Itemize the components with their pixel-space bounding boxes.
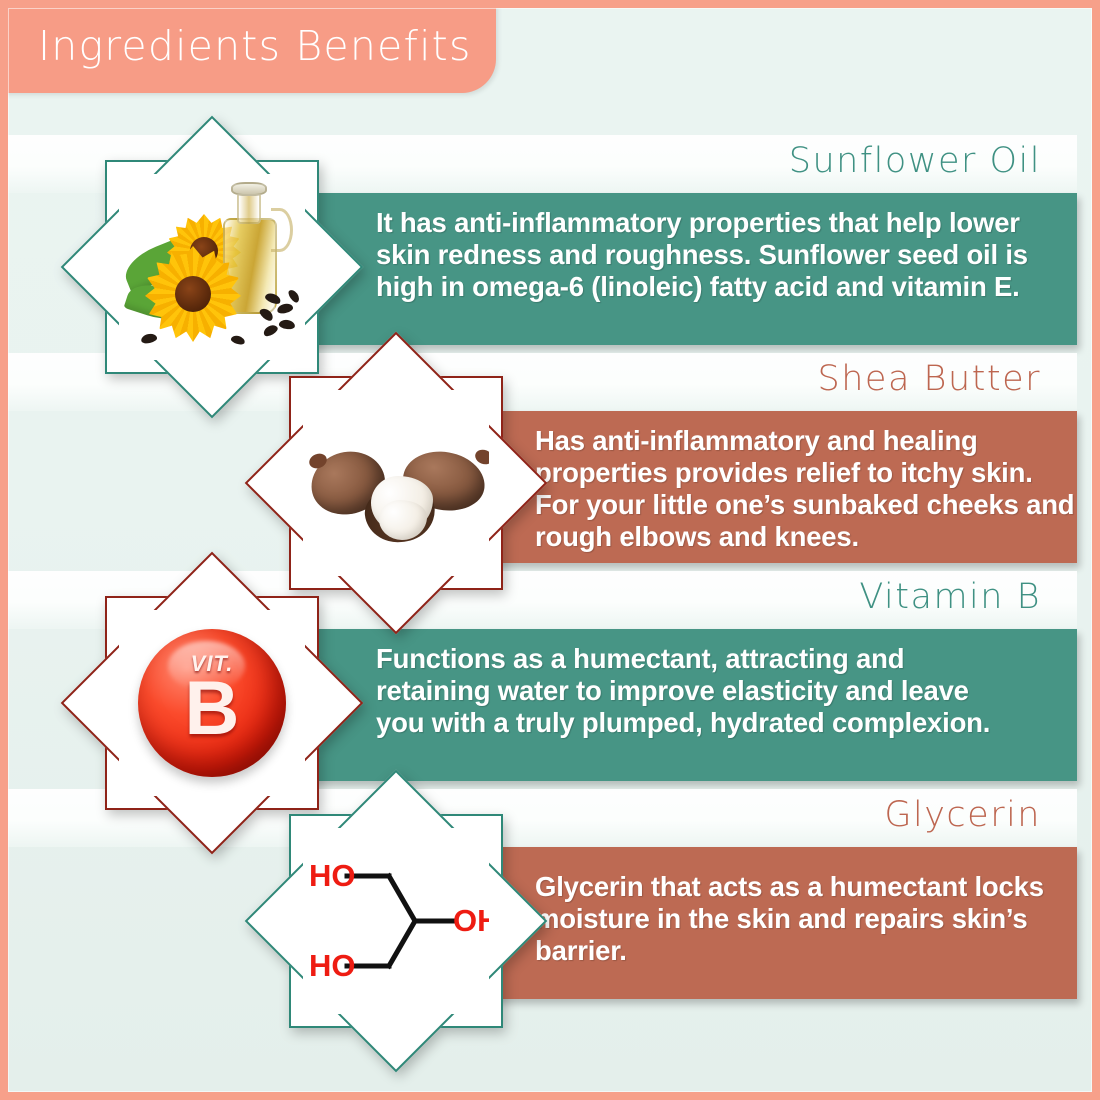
section-body-glycerin: Glycerin that acts as a humectant locks … [535, 871, 1075, 967]
glycerin-label-ho-top: HO [309, 858, 356, 893]
glycerin-skeletal-formula-icon: HO OH HO [303, 828, 489, 1014]
ingredient-badge-glycerin: HO OH HO [289, 814, 503, 1028]
section-body-vitamin-b: Functions as a humectant, attracting and… [376, 643, 1006, 739]
sunflower-seed-icon [287, 288, 302, 304]
sunflower-seed-icon [230, 334, 246, 346]
glycerin-label-oh-right: OH [453, 903, 489, 938]
glycerin-structure-image: HO OH HO [303, 828, 489, 1014]
vitamin-large-label: B [138, 671, 286, 747]
sunflower-seed-icon [278, 319, 295, 330]
section-heading-sunflower-oil: Sunflower Oil [789, 141, 1041, 181]
sunflower-icon [145, 246, 241, 342]
glycerin-label-ho-bottom: HO [309, 948, 356, 983]
oil-bottle-cap-icon [231, 182, 267, 196]
section-heading-shea-butter: Shea Butter [818, 359, 1041, 399]
infographic-page: Ingredients Benefits Sunflower Oil It ha… [0, 0, 1100, 1100]
page-title: Ingredients Benefits [38, 22, 472, 70]
ingredient-badge-shea-butter [289, 376, 503, 590]
oil-bottle-handle-icon [271, 208, 293, 252]
text-band-shea-butter: Has anti-inflammatory and healing proper… [473, 411, 1077, 563]
ingredient-badge-sunflower-oil [105, 160, 319, 374]
sunflower-seed-icon [140, 332, 158, 344]
text-band-glycerin: Glycerin that acts as a humectant locks … [473, 847, 1077, 999]
text-band-vitamin-b: Functions as a humectant, attracting and… [308, 629, 1077, 781]
vitamin-b-sphere-image: VIT. B [119, 610, 305, 796]
section-heading-vitamin-b: Vitamin B [859, 577, 1041, 617]
header-banner: Ingredients Benefits [8, 8, 496, 93]
oil-bottle-neck-icon [237, 192, 261, 224]
sunflower-seed-icon [276, 302, 294, 315]
sunflower-oil-image [119, 174, 305, 360]
sunflower-seed-icon [262, 323, 279, 338]
vitamin-sphere-icon: VIT. B [138, 629, 286, 777]
ingredient-badge-vitamin-b: VIT. B [105, 596, 319, 810]
text-band-sunflower-oil: It has anti-inflammatory properties that… [308, 193, 1077, 345]
infographic-canvas: Ingredients Benefits Sunflower Oil It ha… [8, 8, 1092, 1092]
shea-nuts-image [303, 390, 489, 576]
shea-nut-tip-icon [473, 447, 489, 466]
section-heading-glycerin: Glycerin [884, 795, 1041, 835]
section-body-shea-butter: Has anti-inflammatory and healing proper… [535, 425, 1075, 553]
section-body-sunflower-oil: It has anti-inflammatory properties that… [376, 207, 1056, 303]
